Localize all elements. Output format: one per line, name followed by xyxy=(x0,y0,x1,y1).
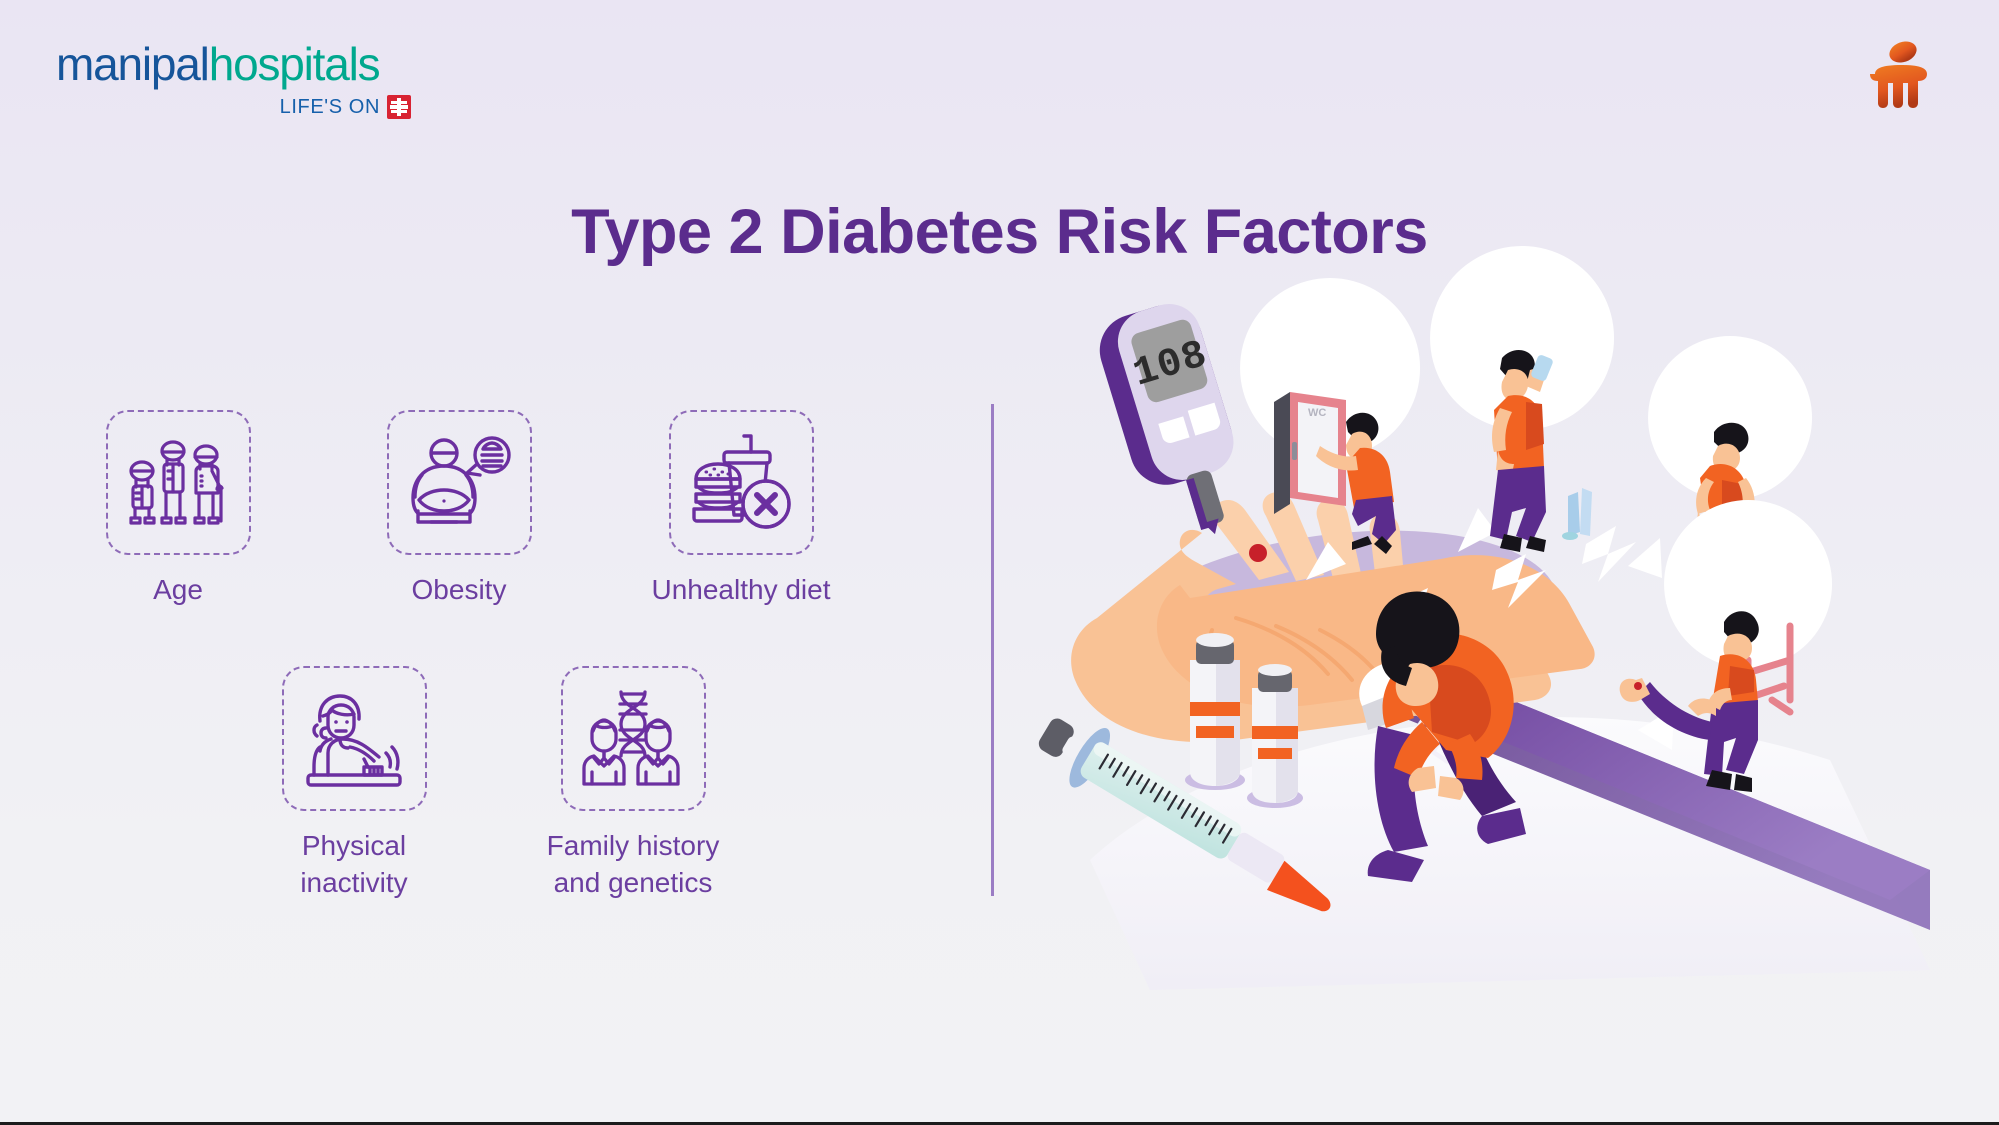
risk-factor-label: Family history and genetics xyxy=(533,827,733,901)
risk-factor-family-history[interactable]: Family history and genetics xyxy=(533,666,733,901)
manipal-figure-mark-icon xyxy=(1861,38,1941,110)
burger-soda-prohibited-icon xyxy=(686,428,796,538)
risk-factor-label: Unhealthy diet xyxy=(641,571,841,608)
logo-text-manipal: manipal xyxy=(56,38,209,90)
risk-factor-icon-box xyxy=(669,410,814,555)
door-sign-label: WC xyxy=(1308,407,1326,419)
manipal-hospitals-logo[interactable]: manipalhospitals LIFE'S ON xyxy=(56,38,456,128)
water-bottles xyxy=(1562,488,1592,540)
risk-factor-label: Physical inactivity xyxy=(254,827,454,901)
diabetes-symptoms-illustration: DIABETES xyxy=(1030,330,1970,990)
risk-factor-label: Obesity xyxy=(359,571,559,608)
page-title: Type 2 Diabetes Risk Factors xyxy=(0,196,1999,268)
risk-factor-unhealthy-diet[interactable]: Unhealthy diet xyxy=(641,410,841,608)
risk-factor-age[interactable]: Age xyxy=(78,410,278,608)
blood-drop-icon xyxy=(1249,544,1267,562)
family-dna-icon xyxy=(578,686,688,792)
risk-factor-icon-box xyxy=(561,666,706,811)
logo-tagline: LIFE'S ON xyxy=(280,96,380,119)
infographic-poster: manipalhospitals LIFE'S ON Ty xyxy=(0,0,1999,1125)
age-three-generations-icon xyxy=(124,431,232,535)
risk-factor-icon-box xyxy=(387,410,532,555)
red-cross-icon xyxy=(387,95,411,119)
risk-factor-physical-inactivity[interactable]: Physical inactivity xyxy=(254,666,454,901)
symptom-bubble-excessive-thirst[interactable] xyxy=(1430,246,1614,552)
logo-tagline-row: LIFE'S ON xyxy=(56,95,411,119)
risk-factor-icon-box xyxy=(282,666,427,811)
risk-factors-grid: Age xyxy=(70,400,960,920)
logo-wordmark: manipalhospitals xyxy=(56,38,456,90)
person-slouched-desk-icon xyxy=(298,687,410,791)
obese-person-burger-icon xyxy=(403,431,515,535)
logo-text-hospitals: hospitals xyxy=(209,38,380,90)
risk-factor-icon-box xyxy=(106,410,251,555)
risk-factor-obesity[interactable]: Obesity xyxy=(359,410,559,608)
vertical-divider xyxy=(991,404,994,896)
risk-factor-label: Age xyxy=(78,571,278,608)
